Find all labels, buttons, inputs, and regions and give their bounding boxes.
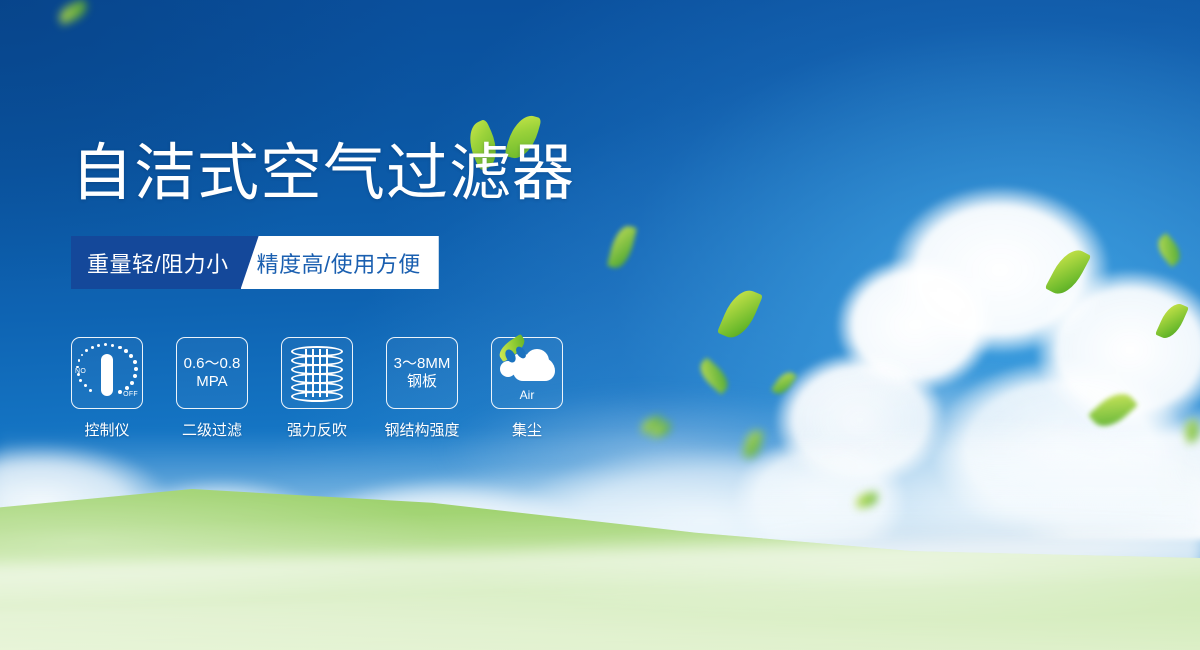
filter-coil-icon xyxy=(291,346,343,400)
subtitle-right: 精度高/使用方便 xyxy=(241,236,439,289)
steel-value-line1: 3～8MM xyxy=(394,355,451,373)
feature-caption: 控制仪 xyxy=(84,419,129,440)
pressure-value-line2: MPA xyxy=(184,373,241,391)
dial-on-label: NO xyxy=(75,368,86,375)
air-label: Air xyxy=(497,388,557,402)
banner-root: 自洁式空气过滤器 重量轻/阻力小 精度高/使用方便 xyxy=(0,0,1200,650)
feature-caption: 强力反吹 xyxy=(287,419,347,440)
pressure-value-line1: 0.6～0.8 xyxy=(184,355,241,373)
feature-item-steel[interactable]: 3～8MM 钢板 钢结构强度 xyxy=(386,337,458,440)
dial-pointer xyxy=(101,354,113,396)
feature-list: NO OFF 控制仪 0.6～0.8 MPA 二级过滤 xyxy=(71,337,563,440)
feature-caption: 二级过滤 xyxy=(182,419,242,440)
feature-icon-box xyxy=(281,337,353,409)
feature-caption: 集尘 xyxy=(512,419,542,440)
feature-icon-box: NO OFF xyxy=(71,337,143,409)
feature-item-dust[interactable]: Air 集尘 xyxy=(491,337,563,440)
pressure-text-icon: 0.6～0.8 MPA xyxy=(184,355,241,392)
feature-icon-box: 0.6～0.8 MPA xyxy=(176,337,248,409)
feature-item-control-dial[interactable]: NO OFF 控制仪 xyxy=(71,337,143,440)
feature-icon-box: Air xyxy=(491,337,563,409)
feature-caption: 钢结构强度 xyxy=(385,419,460,440)
air-cloud-icon: Air xyxy=(497,345,557,401)
feature-item-backblow[interactable]: 强力反吹 xyxy=(281,337,353,440)
subtitle-bar: 重量轻/阻力小 精度高/使用方便 xyxy=(71,236,439,289)
subtitle-left: 重量轻/阻力小 xyxy=(71,236,259,289)
feature-icon-box: 3～8MM 钢板 xyxy=(386,337,458,409)
steel-plate-text-icon: 3～8MM 钢板 xyxy=(394,355,451,392)
control-dial-icon: NO OFF xyxy=(74,342,140,404)
page-title: 自洁式空气过滤器 xyxy=(71,143,575,205)
feature-item-pressure[interactable]: 0.6～0.8 MPA 二级过滤 xyxy=(176,337,248,440)
dial-off-label: OFF xyxy=(123,391,138,398)
steel-value-line2: 钢板 xyxy=(394,373,451,391)
